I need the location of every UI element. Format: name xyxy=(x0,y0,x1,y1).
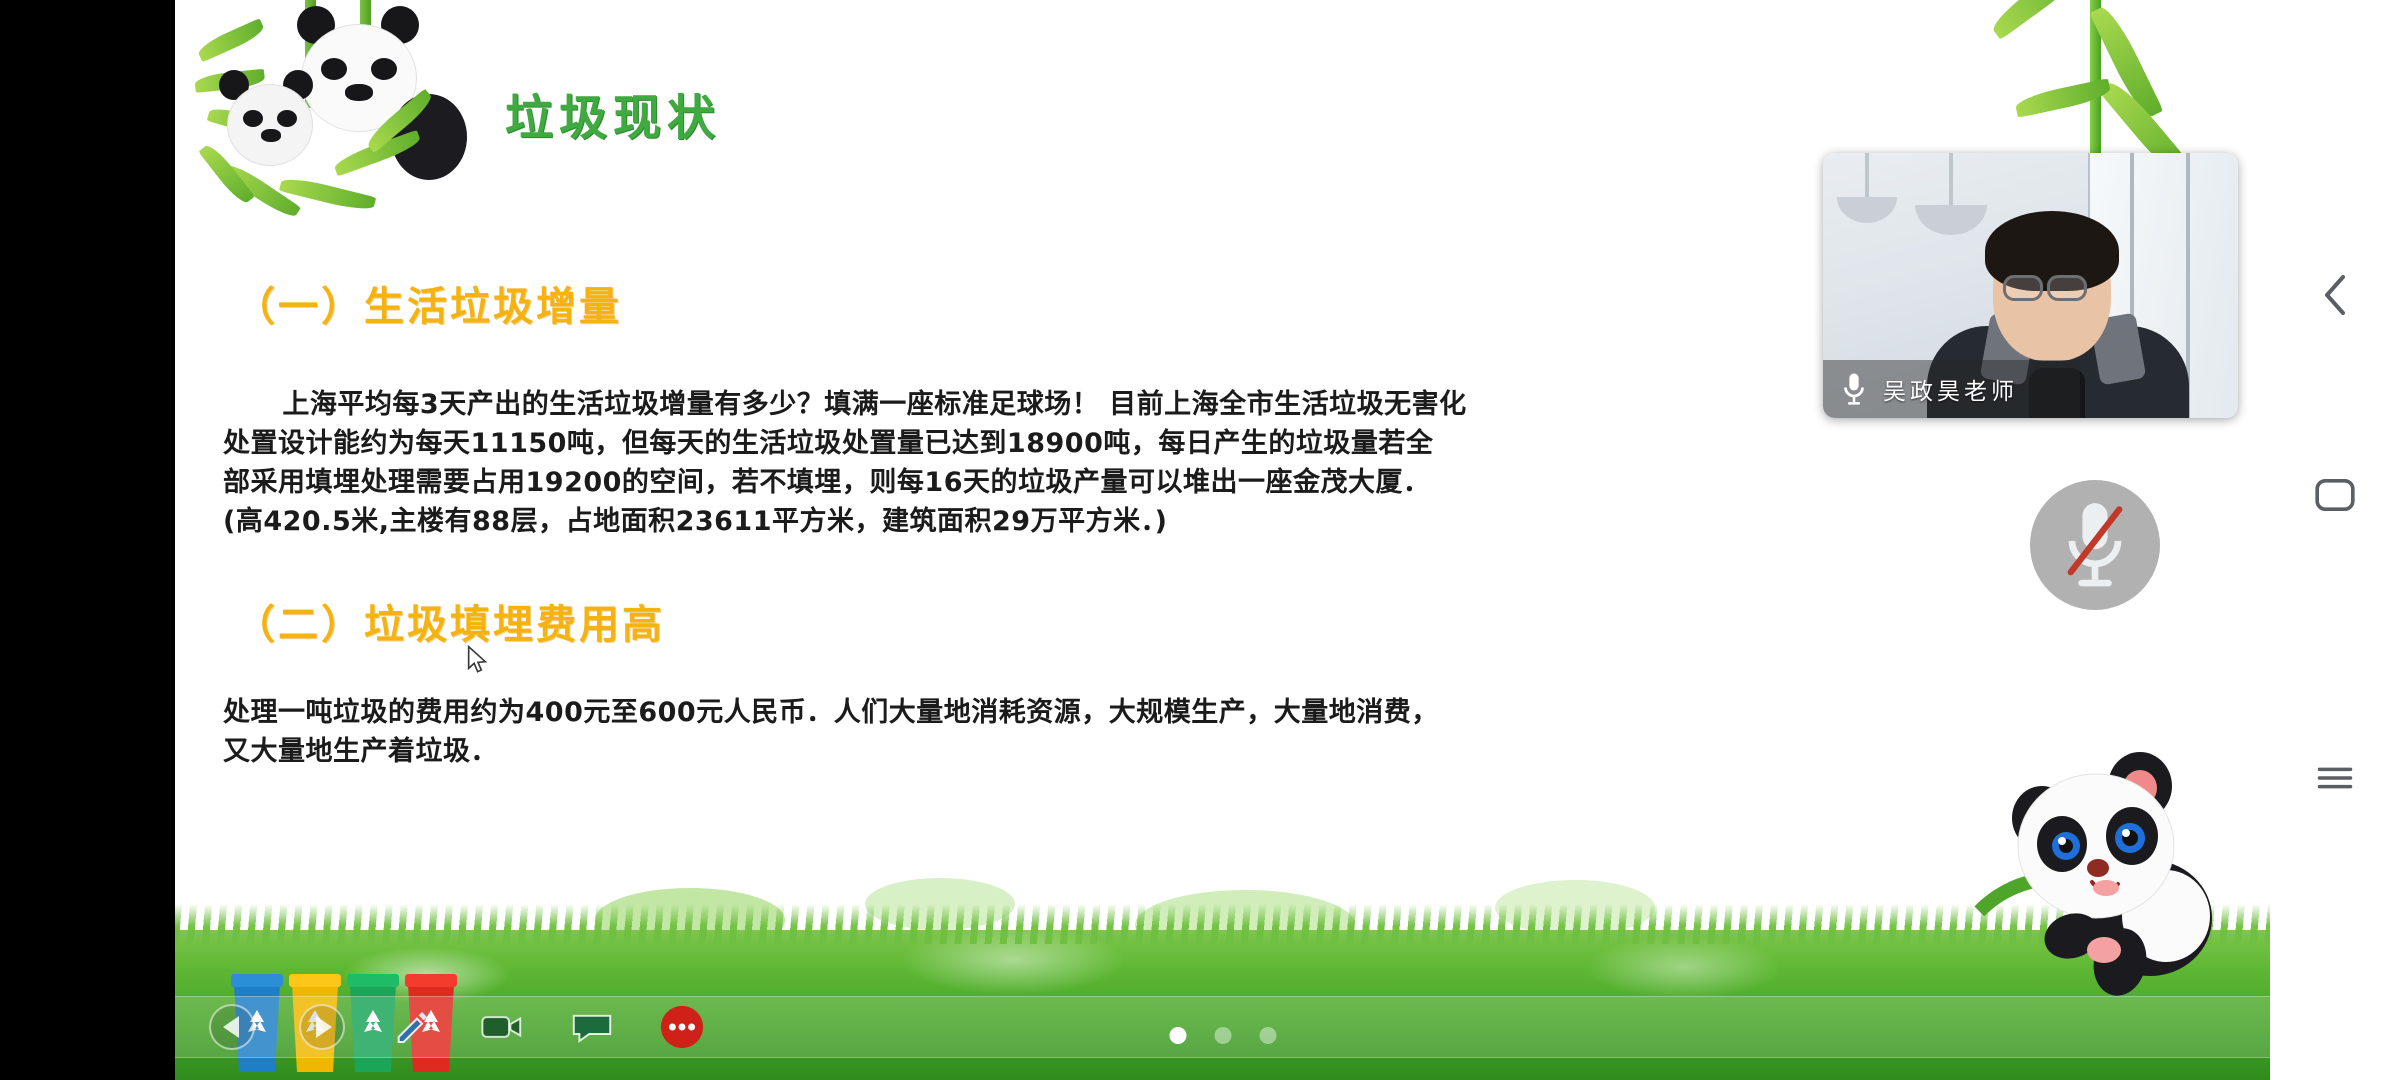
player-toolbar[interactable] xyxy=(175,996,2270,1058)
participant-name-bar: 吴政昊老师 xyxy=(1823,360,2080,418)
microphone-muted-icon xyxy=(2058,499,2132,591)
more-options-button[interactable] xyxy=(659,1004,705,1050)
next-slide-button[interactable] xyxy=(299,1004,345,1050)
camera-button[interactable] xyxy=(479,1004,525,1050)
chat-bubble-icon xyxy=(571,1010,613,1044)
participant-name: 吴政昊老师 xyxy=(1883,372,2018,406)
back-button[interactable] xyxy=(2305,265,2365,325)
section-body-1: 上海平均每3天产出的生活垃圾增量有多少？填满一座标准足球场！ 目前上海全市生活垃… xyxy=(223,385,1723,541)
triangle-right-icon xyxy=(316,1016,332,1038)
pencil-icon xyxy=(392,1007,432,1047)
right-sidebar xyxy=(2270,0,2400,1080)
chevron-left-icon xyxy=(2318,273,2352,317)
section-body-2: 处理一吨垃圾的费用约为400元至600元人民币．人们大量地消耗资源，大规模生产，… xyxy=(223,693,1723,771)
page-title: 垃圾现状 xyxy=(505,78,721,148)
screen: 垃圾现状 （一）生活垃圾增量 上海平均每3天产出的生活垃圾增量有多少？填满一座标… xyxy=(0,0,2400,1080)
more-dots-icon xyxy=(659,1004,705,1050)
previous-slide-button[interactable] xyxy=(209,1004,255,1050)
microphone-icon xyxy=(1841,372,1867,406)
participant-video-tile[interactable]: 吴政昊老师 xyxy=(1823,153,2238,418)
panda-mascot-illustration xyxy=(1980,740,2230,1000)
hamburger-menu-icon xyxy=(2316,763,2354,793)
triangle-left-icon xyxy=(223,1016,239,1038)
section-heading-2: （二）垃圾填埋费用高 xyxy=(235,592,665,650)
square-button[interactable] xyxy=(2305,465,2365,525)
menu-button[interactable] xyxy=(2305,748,2365,808)
video-camera-icon xyxy=(481,1011,523,1043)
mute-microphone-button[interactable] xyxy=(2030,480,2160,610)
annotate-pen-button[interactable] xyxy=(389,1004,435,1050)
panda-header-illustration xyxy=(185,0,515,238)
section-heading-1: （一）生活垃圾增量 xyxy=(235,274,622,332)
square-icon xyxy=(2315,478,2355,512)
chat-button[interactable] xyxy=(569,1004,615,1050)
mouse-cursor xyxy=(466,645,488,675)
